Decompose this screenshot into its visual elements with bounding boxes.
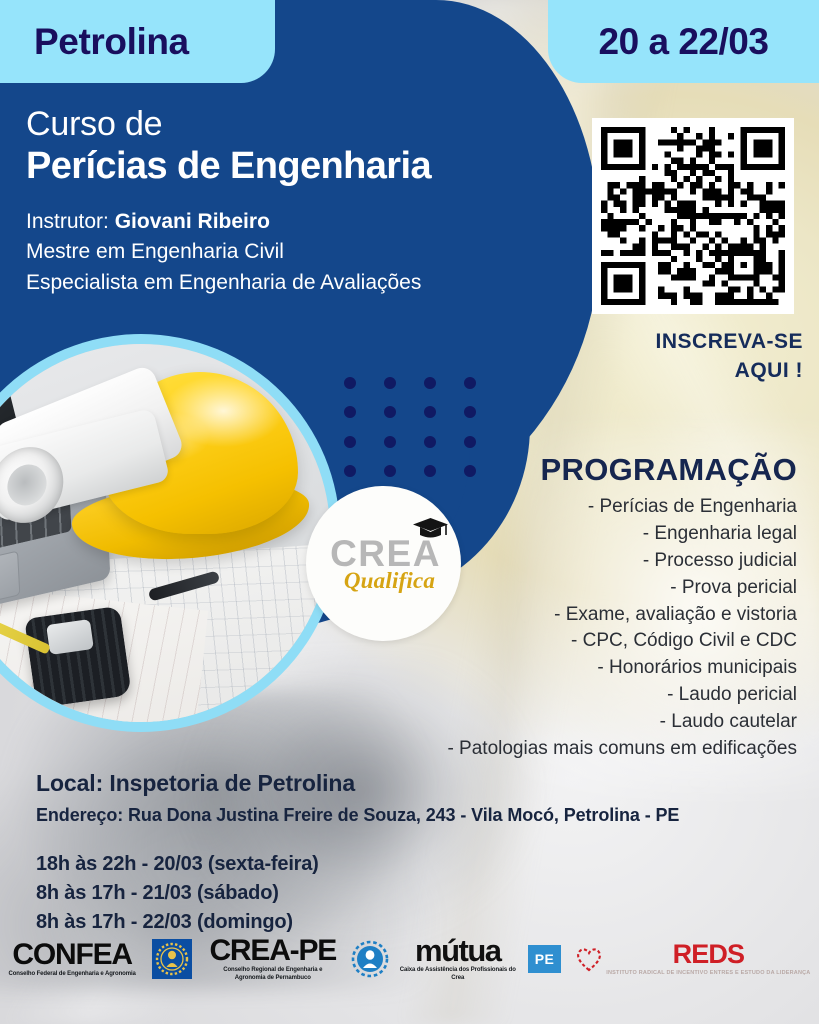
city-badge: Petrolina: [0, 0, 275, 83]
venue-address: Endereço: Rua Dona Justina Freire de Sou…: [36, 805, 679, 826]
qr-caption: INSCREVA-SE AQUI !: [560, 328, 803, 386]
crea-pe-subtitle: Conselho Regional de Engenharia e Agrono…: [208, 967, 338, 982]
mutua-state-tag: PE: [528, 945, 561, 973]
program-item: - Prova pericial: [237, 575, 797, 602]
mutua-subtitle: Caixa de Assistência dos Profissionais d…: [393, 967, 523, 982]
schedule-item: 8h às 17h - 21/03 (sábado): [36, 879, 679, 908]
course-eyebrow: Curso de: [26, 106, 546, 143]
crea-pe-wordmark: CREA-PE: [209, 936, 336, 965]
reds-heart-icon: [574, 945, 604, 973]
program-item: - Exame, avaliação e vistoria: [237, 602, 797, 629]
date-badge: 20 a 22/03: [548, 0, 819, 83]
confea-seal-icon: [152, 939, 192, 979]
logo-mutua: mútua Caixa de Assistência dos Profissio…: [351, 936, 561, 982]
city-badge-label: Petrolina: [34, 21, 189, 63]
logo-reds: REDS INSTITUTO RADICAL DE INCENTIVO ENTR…: [574, 941, 810, 977]
photo-tape-measure-hub: [46, 619, 94, 655]
reds-subtitle: INSTITUTO RADICAL DE INCENTIVO ENTRES E …: [606, 970, 810, 977]
registration-qr-code[interactable]: [592, 118, 794, 314]
instructor-label: Instrutor:: [26, 210, 115, 233]
instructor-credential-2: Especialista em Engenharia de Avaliações: [26, 268, 546, 298]
program-item: - Perícias de Engenharia: [237, 494, 797, 521]
location-block: Local: Inspetoria de Petrolina Endereço:…: [36, 770, 679, 937]
program-heading: PROGRAMAÇÃO: [541, 452, 797, 488]
mutua-gear-icon: [351, 940, 389, 978]
qr-caption-line-1: INSCREVA-SE: [560, 328, 803, 357]
program-list: - Perícias de Engenharia- Engenharia leg…: [237, 494, 797, 763]
course-title: Perícias de Engenharia: [26, 145, 546, 188]
mutua-wordmark: mútua: [415, 936, 501, 965]
instructor-line: Instrutor: Giovani Ribeiro: [26, 207, 546, 237]
instructor-name: Giovani Ribeiro: [115, 210, 270, 233]
event-poster: Petrolina 20 a 22/03 Curso de Perícias d…: [0, 0, 819, 1024]
program-item: - Patologias mais comuns em edificações: [237, 736, 797, 763]
date-badge-label: 20 a 22/03: [599, 21, 769, 63]
logo-confea: CONFEA Conselho Federal de Engenharia e …: [9, 940, 136, 979]
confea-subtitle: Conselho Federal de Engenharia e Agronom…: [9, 971, 136, 978]
schedule-item: 18h às 22h - 20/03 (sexta-feira): [36, 850, 679, 879]
program-item: - Laudo pericial: [237, 682, 797, 709]
qr-code-image: [601, 127, 785, 305]
venue-name: Local: Inspetoria de Petrolina: [36, 770, 679, 797]
program-item: - Processo judicial: [237, 548, 797, 575]
program-item: - Laudo cautelar: [237, 709, 797, 736]
qr-caption-line-2: AQUI !: [560, 357, 803, 386]
schedule-list: 18h às 22h - 20/03 (sexta-feira)8h às 17…: [36, 850, 679, 937]
course-title-block: Curso de Perícias de Engenharia Instruto…: [26, 106, 546, 298]
program-item: - CPC, Código Civil e CDC: [237, 628, 797, 655]
program-item: - Honorários municipais: [237, 655, 797, 682]
logo-crea-pe: CREA-PE Conselho Regional de Engenharia …: [208, 936, 338, 982]
reds-wordmark: REDS: [673, 941, 744, 968]
confea-wordmark: CONFEA: [12, 940, 131, 969]
program-item: - Engenharia legal: [237, 521, 797, 548]
instructor-credential-1: Mestre em Engenharia Civil: [26, 237, 546, 267]
sponsor-logos: CONFEA Conselho Federal de Engenharia e …: [0, 930, 819, 988]
decorative-dot-grid: [330, 368, 490, 486]
